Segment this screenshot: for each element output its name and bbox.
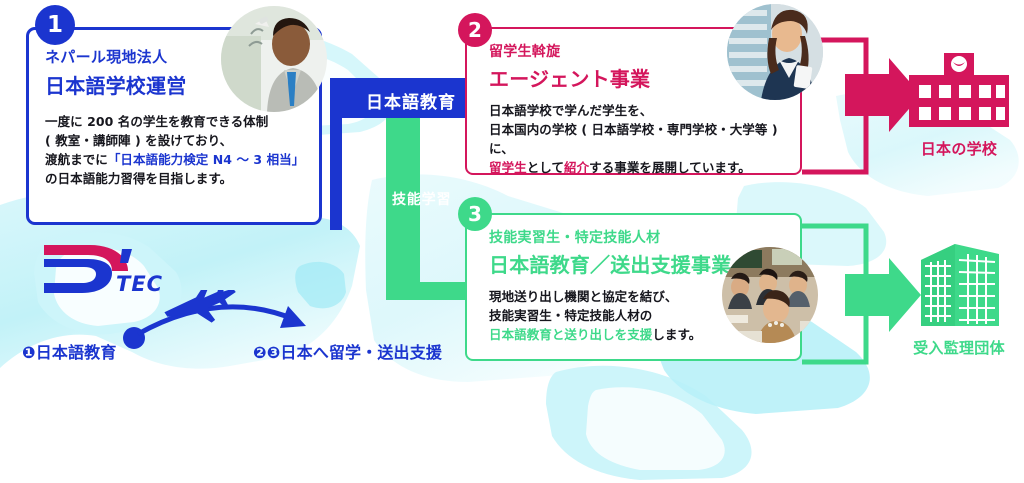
route-curve <box>138 307 296 334</box>
body-line: 日本語学校で学んだ学生を、 <box>489 101 788 120</box>
footer-label-right: ❷❸日本へ留学・送出支援 <box>253 339 442 363</box>
blue-band-label: 日本語教育 <box>338 88 484 113</box>
footer-label-left: ❶日本語教育 <box>22 339 117 363</box>
airplane-icon <box>160 290 241 332</box>
school-building-icon <box>906 53 1012 133</box>
body-line: 日本国内の学校 ( 日本語学校・専門学校・大学等 ) に、 <box>489 120 788 158</box>
photo-classroom <box>722 247 818 343</box>
card-2-body: 日本語学校で学んだ学生を、 日本国内の学校 ( 日本語学校・専門学校・大学等 )… <box>489 101 788 177</box>
photo-businesswoman <box>727 4 823 100</box>
green-band-vertical <box>386 118 420 300</box>
infographic-canvas: 日本語教育 技能学習 ネパール現地法人 日本語学校運営 一度に 200 名の学生… <box>0 0 1024 483</box>
card-2-number-badge: 2 <box>458 13 492 47</box>
dtec-logo: TEC <box>38 243 188 297</box>
card-1-body: 一度に 200 名の学生を教育できる体制 ( 教室・講師陣 ) を設けており、 … <box>45 112 305 188</box>
body-line: 留学生として紹介する事業を展開しています。 <box>489 158 788 177</box>
photo-student-writing <box>221 6 327 112</box>
destination-japanese-school-caption: 日本の学校 <box>895 138 1023 159</box>
card-3-kicker: 技能実習生・特定技能人材 <box>489 227 788 247</box>
body-line: 一度に 200 名の学生を教育できる体制 <box>45 112 305 131</box>
body-line: 渡航までに「日本語能力検定 N4 〜 3 相当」 <box>45 150 305 169</box>
body-line: ( 教室・講師陣 ) を設けており、 <box>45 131 305 150</box>
destination-supervising-org-caption: 受入監理団体 <box>895 337 1023 358</box>
green-band-label: 技能学習 <box>392 193 414 208</box>
body-line: の日本語能力習得を目指します。 <box>45 169 305 188</box>
destination-supervising-org: 受入監理団体 <box>895 240 1023 358</box>
destination-japanese-school: 日本の学校 <box>895 53 1023 159</box>
card-3-number-badge: 3 <box>458 197 492 231</box>
office-building-icon <box>907 240 1011 332</box>
card-1-number-badge: 1 <box>35 5 75 45</box>
